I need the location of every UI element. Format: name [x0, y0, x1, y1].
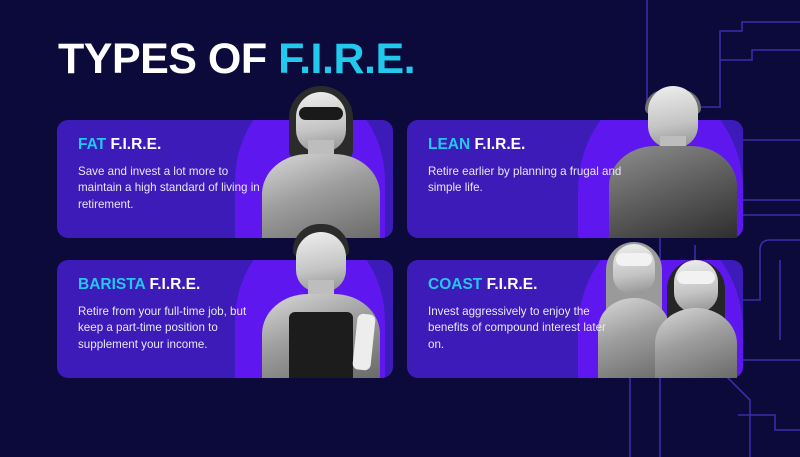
card-fat-suffix: F.I.R.E. [110, 136, 161, 153]
page-title-accent: F.I.R.E. [278, 35, 415, 83]
card-fat-text: FAT F.I.R.E. Save and invest a lot more … [57, 120, 272, 214]
card-lean-suffix: F.I.R.E. [475, 136, 526, 153]
card-barista-suffix: F.I.R.E. [149, 276, 200, 293]
card-fat-title: FAT F.I.R.E. [78, 137, 272, 153]
page-title-prefix: TYPES OF [58, 35, 267, 83]
card-barista-keyword: BARISTA [78, 276, 145, 293]
card-barista-title: BARISTA F.I.R.E. [78, 277, 272, 293]
card-grid: FAT F.I.R.E. Save and invest a lot more … [57, 120, 743, 378]
portrait-barista [255, 223, 387, 378]
card-lean-description: Retire earlier by planning a frugal and … [428, 164, 622, 198]
card-lean-title: LEAN F.I.R.E. [428, 137, 622, 153]
card-coast-title: COAST F.I.R.E. [428, 277, 622, 293]
page-title: TYPES OF F.I.R.E. [58, 38, 415, 81]
card-barista-text: BARISTA F.I.R.E. Retire from your full-t… [57, 260, 272, 354]
portrait-fat [255, 78, 387, 238]
card-coast-suffix: F.I.R.E. [487, 276, 538, 293]
infographic-page: TYPES OF F.I.R.E. FAT F.I.R.E. Save and [0, 0, 800, 457]
body-shape [655, 308, 737, 378]
card-coast-text: COAST F.I.R.E. Invest aggressively to en… [407, 260, 622, 354]
card-coast-fire[interactable]: COAST F.I.R.E. Invest aggressively to en… [407, 260, 743, 378]
card-barista-description: Retire from your full-time job, but keep… [78, 304, 272, 354]
apron-shape [289, 312, 353, 378]
sunglasses-shape [677, 271, 715, 284]
front-person-shape [653, 246, 739, 378]
card-fat-description: Save and invest a lot more to maintain a… [78, 164, 272, 214]
card-lean-text: LEAN F.I.R.E. Retire earlier by planning… [407, 120, 622, 197]
card-lean-keyword: LEAN [428, 136, 470, 153]
card-coast-keyword: COAST [428, 276, 482, 293]
sunglasses-shape [299, 107, 343, 120]
card-fat-fire[interactable]: FAT F.I.R.E. Save and invest a lot more … [57, 120, 393, 238]
head-shape [674, 260, 718, 312]
card-barista-fire[interactable]: BARISTA F.I.R.E. Retire from your full-t… [57, 260, 393, 378]
card-coast-description: Invest aggressively to enjoy the benefit… [428, 304, 622, 354]
card-fat-keyword: FAT [78, 136, 106, 153]
